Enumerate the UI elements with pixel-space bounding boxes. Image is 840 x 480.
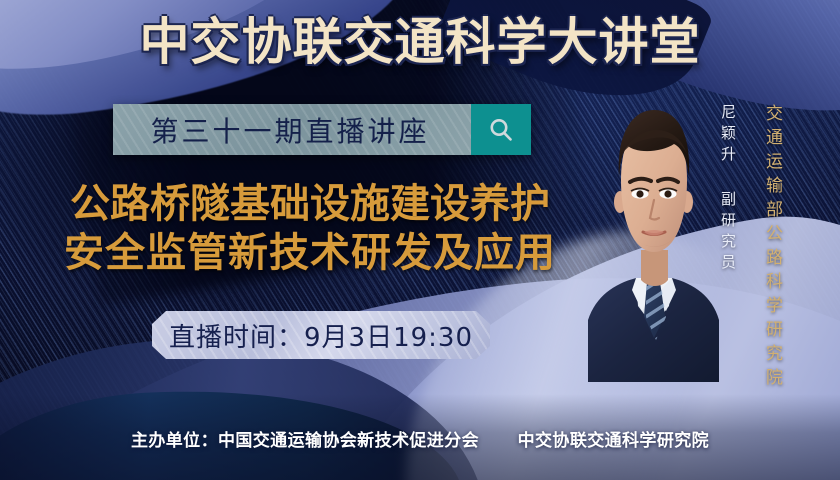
lecture-title-line1: 公路桥隧基础设施建设养护 <box>30 180 590 229</box>
live-time-banner: 直播时间：9月3日19:30 <box>152 311 490 359</box>
footer-organizers: 主办单位：中国交通运输协会新技术促进分会 中交协联交通科学研究院 <box>0 426 840 451</box>
poster-canvas: 中交协联交通科学大讲堂 第三十一期直播讲座 公路桥隧基础设施建设养护 安全监管新… <box>0 0 840 480</box>
search-icon <box>486 115 516 145</box>
footer-organizer-co: 中交协联交通科学研究院 <box>518 431 709 451</box>
lecture-title-line2: 安全监管新技术研发及应用 <box>30 229 590 278</box>
session-bar[interactable]: 第三十一期直播讲座 <box>113 104 531 155</box>
live-time-text: 直播时间：9月3日19:30 <box>169 317 473 354</box>
footer-organizer-main: 主办单位：中国交通运输协会新技术促进分会 <box>131 431 479 451</box>
page-title-text: 中交协联交通科学大讲堂 <box>140 13 701 71</box>
speaker-name-vertical: 尼颖升 副研究员 <box>718 104 739 275</box>
page-title: 中交协联交通科学大讲堂 <box>0 14 840 70</box>
search-button[interactable] <box>471 104 531 155</box>
speaker-organization-vertical: 交通运输部公路科学研究院 <box>760 104 785 392</box>
lecture-title: 公路桥隧基础设施建设养护 安全监管新技术研发及应用 <box>30 180 590 278</box>
speaker-photo <box>586 82 721 382</box>
session-label: 第三十一期直播讲座 <box>113 104 471 155</box>
